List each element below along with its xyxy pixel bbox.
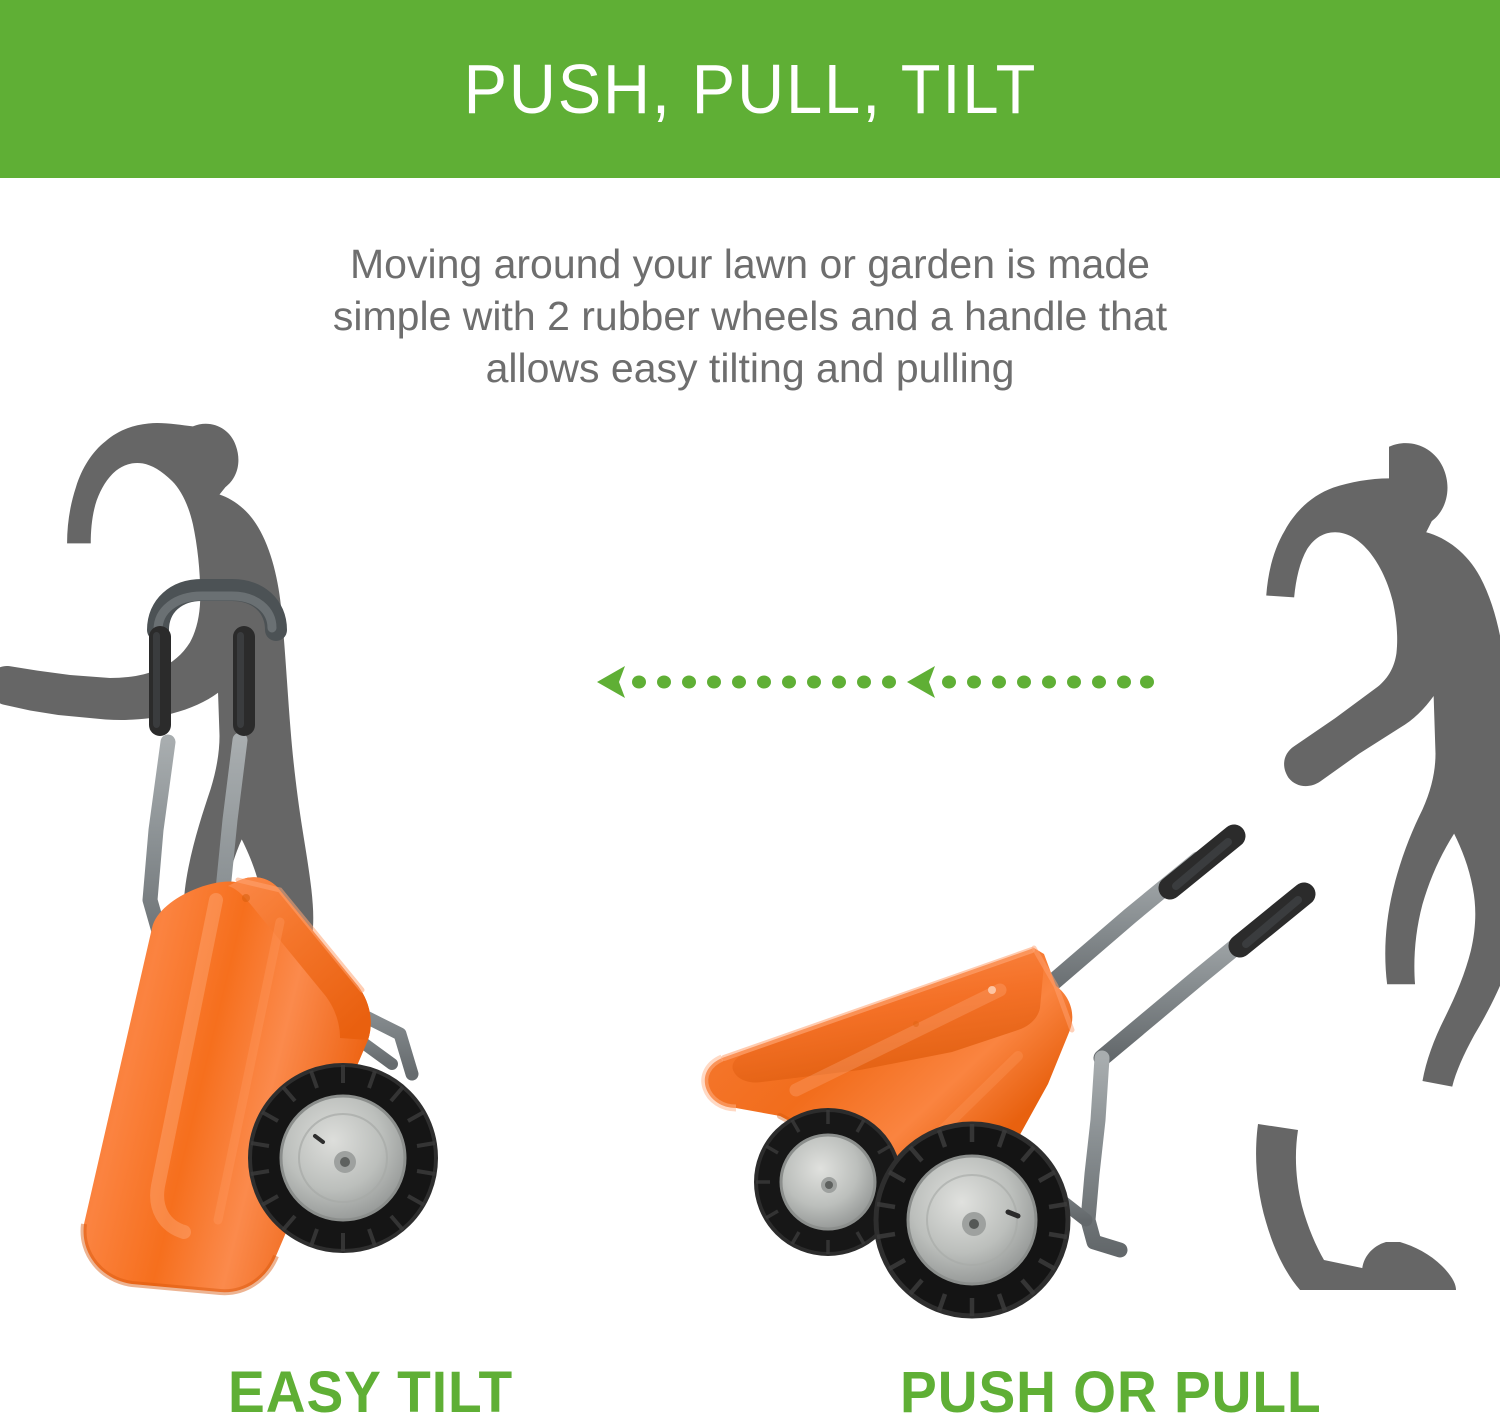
direction-arrows [595,660,1155,705]
caption-push-or-pull: PUSH OR PULL [900,1364,1322,1422]
arrow-head-outer [597,666,625,698]
cart-wheel-near [876,1124,1068,1316]
arrow-dots-inner [942,676,1154,689]
cart-wheel-left [250,1065,436,1251]
header-banner: PUSH, PULL, TILT [0,0,1500,178]
subtitle-line-2: simple with 2 rubber wheels and a handle… [250,290,1250,342]
subtitle-text: Moving around your lawn or garden is mad… [250,238,1250,394]
person-silhouette-walking [1256,443,1500,1290]
subtitle-line-3: allows easy tilting and pulling [250,342,1250,394]
caption-easy-tilt: EASY TILT [228,1364,513,1422]
page-title: PUSH, PULL, TILT [463,54,1037,124]
arrow-head-inner [907,666,935,698]
arrow-dots-outer [632,676,896,689]
subtitle-line-1: Moving around your lawn or garden is mad… [250,238,1250,290]
scene-push-or-pull [700,430,1460,1290]
scene-easy-tilt [40,430,680,1290]
